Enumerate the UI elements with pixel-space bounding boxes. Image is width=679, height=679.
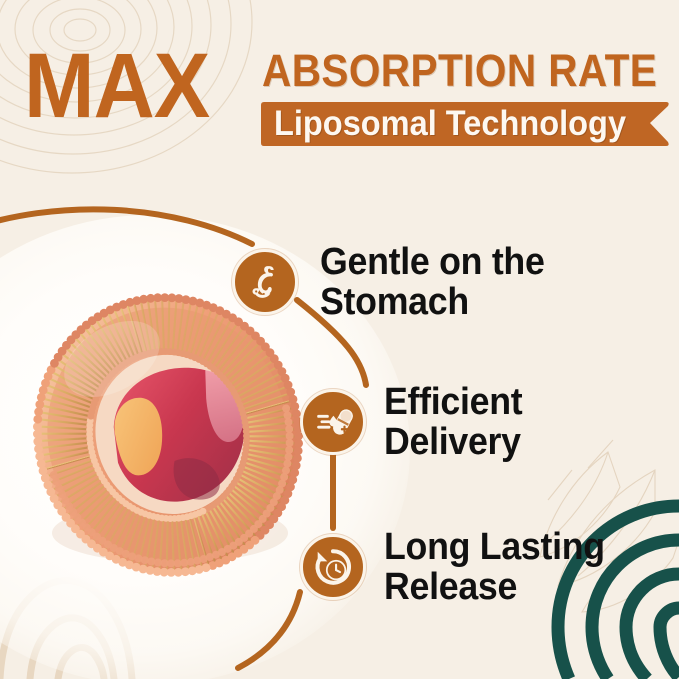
word-mark-max: MAX xyxy=(24,40,209,132)
capsule-droplet-icon xyxy=(300,389,366,455)
feature-item-efficient-delivery[interactable]: Efficient Delivery xyxy=(300,382,531,462)
ribbon-label: Liposomal Technology xyxy=(274,106,626,142)
liposome-illustration xyxy=(20,285,320,585)
stomach-icon xyxy=(232,249,298,315)
header: MAX ABSORPTION RATE Liposomal Technology xyxy=(0,0,679,175)
feature-label-long-lasting-release: Long Lasting Release xyxy=(384,527,605,607)
feature-label-efficient-delivery: Efficient Delivery xyxy=(384,382,522,462)
clock-rewind-icon xyxy=(300,534,366,600)
headline-absorption-rate: ABSORPTION RATE xyxy=(262,48,657,93)
infographic-canvas: MAX ABSORPTION RATE Liposomal Technology… xyxy=(0,0,679,679)
feature-label-gentle-on-the-stomach: Gentle on the Stomach xyxy=(320,242,545,322)
feature-item-gentle-on-the-stomach[interactable]: Gentle on the Stomach xyxy=(232,242,559,322)
ribbon-banner: Liposomal Technology xyxy=(258,101,670,147)
feature-item-long-lasting-release[interactable]: Long Lasting Release xyxy=(300,527,619,607)
